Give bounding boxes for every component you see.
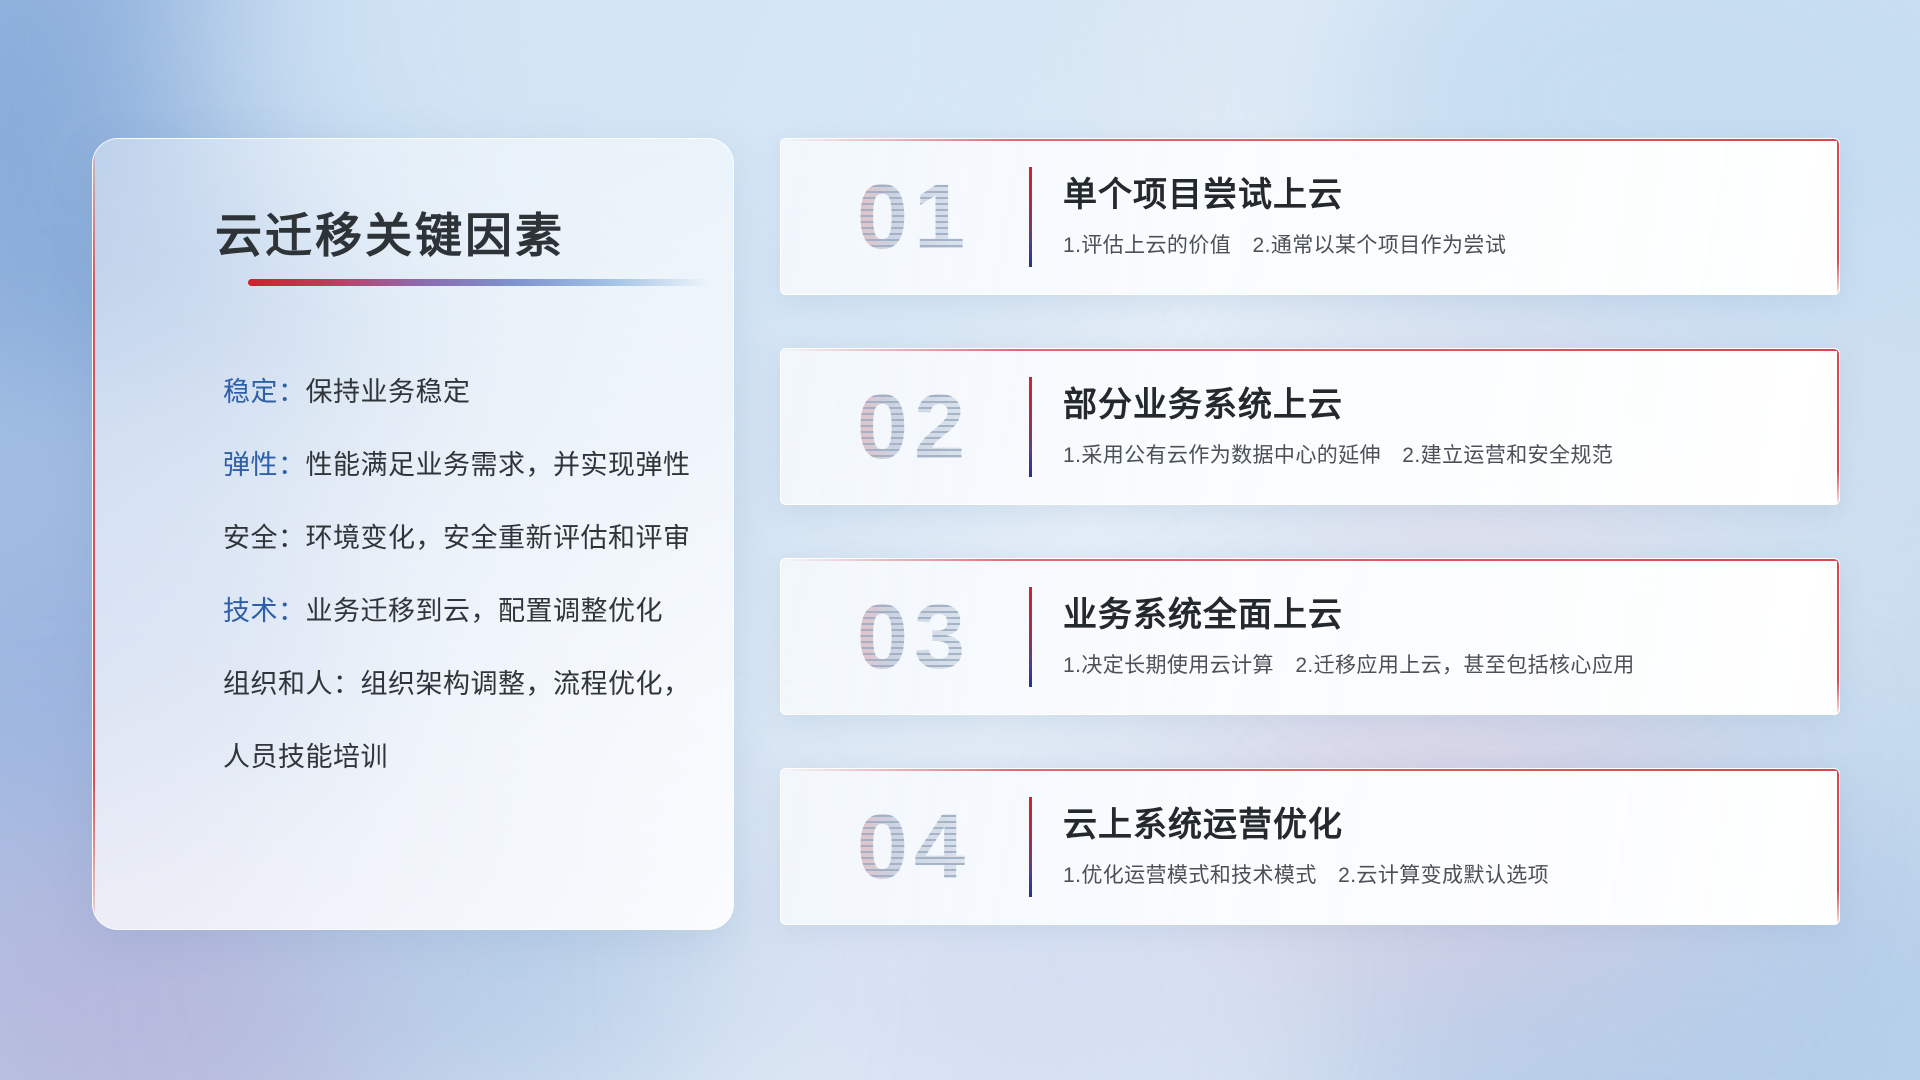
key-factors-list: 稳定：保持业务稳定弹性：性能满足业务需求，并实现弹性安全：环境变化，安全重新评估…	[223, 379, 693, 771]
stage-title: 部分业务系统上云	[1063, 377, 1343, 426]
key-factor-value: 业务迁移到云，配置调整优化	[306, 596, 664, 626]
stage-number-text: 03	[857, 581, 971, 693]
key-factor-item: 弹性：性能满足业务需求，并实现弹性	[223, 452, 693, 479]
stage-description: 1.评估上云的价值 2.通常以某个项目作为尝试	[1063, 229, 1506, 259]
page-title: 云迁移关键因素	[215, 197, 565, 266]
key-factor-value: 环境变化，安全重新评估和评审	[306, 523, 691, 553]
key-factor-item: 人员技能培训	[223, 744, 693, 771]
stage-title: 单个项目尝试上云	[1063, 167, 1343, 216]
key-factor-value: 性能满足业务需求，并实现弹性	[306, 450, 691, 480]
migration-stage-card[interactable]: 02部分业务系统上云1.采用公有云作为数据中心的延伸 2.建立运营和安全规范	[780, 348, 1840, 505]
stage-description: 1.采用公有云作为数据中心的延伸 2.建立运营和安全规范	[1063, 439, 1613, 469]
stage-divider-gradient	[1029, 797, 1032, 897]
key-factor-item: 技术：业务迁移到云，配置调整优化	[223, 598, 693, 625]
migration-stage-card[interactable]: 01单个项目尝试上云1.评估上云的价值 2.通常以某个项目作为尝试	[780, 138, 1840, 295]
key-factor-label: 弹性：	[223, 450, 306, 480]
stage-description: 1.决定长期使用云计算 2.迁移应用上云，甚至包括核心应用	[1063, 649, 1635, 679]
stage-divider-gradient	[1029, 587, 1032, 687]
stage-description: 1.优化运营模式和技术模式 2.云计算变成默认选项	[1063, 859, 1549, 889]
stage-number-text: 01	[857, 161, 971, 273]
key-factor-label: 技术：	[223, 596, 306, 626]
stage-number-text: 04	[857, 791, 971, 903]
migration-stage-card-list: 01单个项目尝试上云1.评估上云的价值 2.通常以某个项目作为尝试02部分业务系…	[780, 138, 1840, 978]
stage-number-watermark: 04	[809, 791, 1019, 903]
stage-divider-gradient	[1029, 377, 1032, 477]
stage-divider-gradient	[1029, 167, 1032, 267]
stage-title: 业务系统全面上云	[1063, 587, 1343, 636]
stage-number-watermark: 03	[809, 581, 1019, 693]
stage-number-text: 02	[857, 371, 971, 483]
stage-number-watermark: 01	[809, 161, 1019, 273]
key-factor-item: 安全：环境变化，安全重新评估和评审	[223, 525, 693, 552]
migration-stage-card[interactable]: 03业务系统全面上云1.决定长期使用云计算 2.迁移应用上云，甚至包括核心应用	[780, 558, 1840, 715]
key-factor-label: 安全：	[223, 523, 306, 553]
stage-number-watermark: 02	[809, 371, 1019, 483]
key-factor-item: 组织和人：组织架构调整，流程优化，	[223, 671, 693, 698]
key-factor-item: 稳定：保持业务稳定	[223, 379, 693, 406]
slide-stage: 云迁移关键因素 稳定：保持业务稳定弹性：性能满足业务需求，并实现弹性安全：环境变…	[0, 0, 1920, 1080]
stage-title: 云上系统运营优化	[1063, 797, 1343, 846]
migration-stage-card[interactable]: 04云上系统运营优化1.优化运营模式和技术模式 2.云计算变成默认选项	[780, 768, 1840, 925]
key-factors-panel: 云迁移关键因素 稳定：保持业务稳定弹性：性能满足业务需求，并实现弹性安全：环境变…	[92, 138, 734, 930]
key-factor-value: 组织架构调整，流程优化，	[361, 669, 691, 699]
key-factor-label: 组织和人：	[223, 669, 361, 699]
key-factor-label: 稳定：	[223, 377, 306, 407]
key-factor-value: 保持业务稳定	[306, 377, 471, 407]
title-underline-gradient	[248, 279, 708, 286]
key-factor-value: 人员技能培训	[223, 742, 388, 772]
